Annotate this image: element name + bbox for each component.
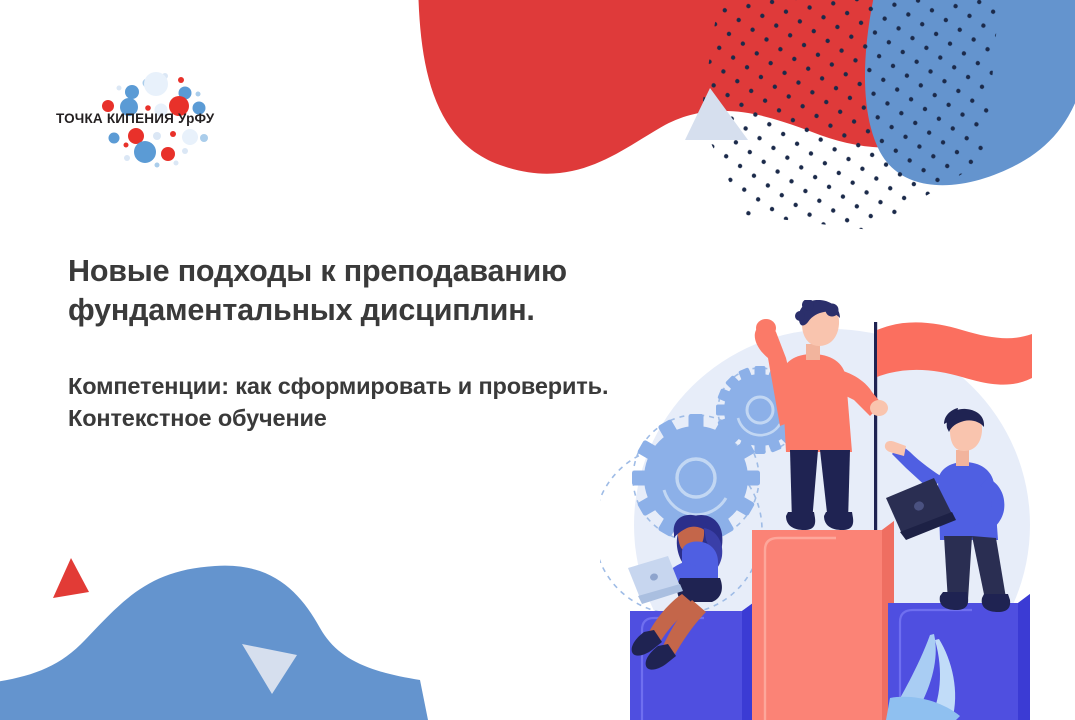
triangle-up-red-bottom xyxy=(53,558,89,598)
dot-grid-pattern xyxy=(660,0,1060,270)
red-blob-shape xyxy=(418,0,1000,174)
blue-blob-bottom-left xyxy=(0,566,430,720)
triangle-up-grey-top xyxy=(685,88,748,140)
slide-canvas: ТОЧКА КИПЕНИЯ УрФУ Новые подходы к препо… xyxy=(0,0,1075,720)
blue-blob-top-right xyxy=(865,0,1075,185)
text-block: Новые подходы к преподаванию фундаментал… xyxy=(68,252,668,434)
page-subtitle: Компетенции: как сформировать и проверит… xyxy=(68,371,668,434)
podium-center xyxy=(752,521,894,720)
illustration-podium-teamwork xyxy=(600,300,1075,720)
logo[interactable]: ТОЧКА КИПЕНИЯ УрФУ xyxy=(52,58,252,170)
logo-mark: ТОЧКА КИПЕНИЯ УрФУ xyxy=(52,58,252,170)
page-title: Новые подходы к преподаванию фундаментал… xyxy=(68,252,668,329)
triangle-down-grey-bottom xyxy=(242,644,297,694)
logo-wordmark: ТОЧКА КИПЕНИЯ УрФУ xyxy=(56,111,215,126)
